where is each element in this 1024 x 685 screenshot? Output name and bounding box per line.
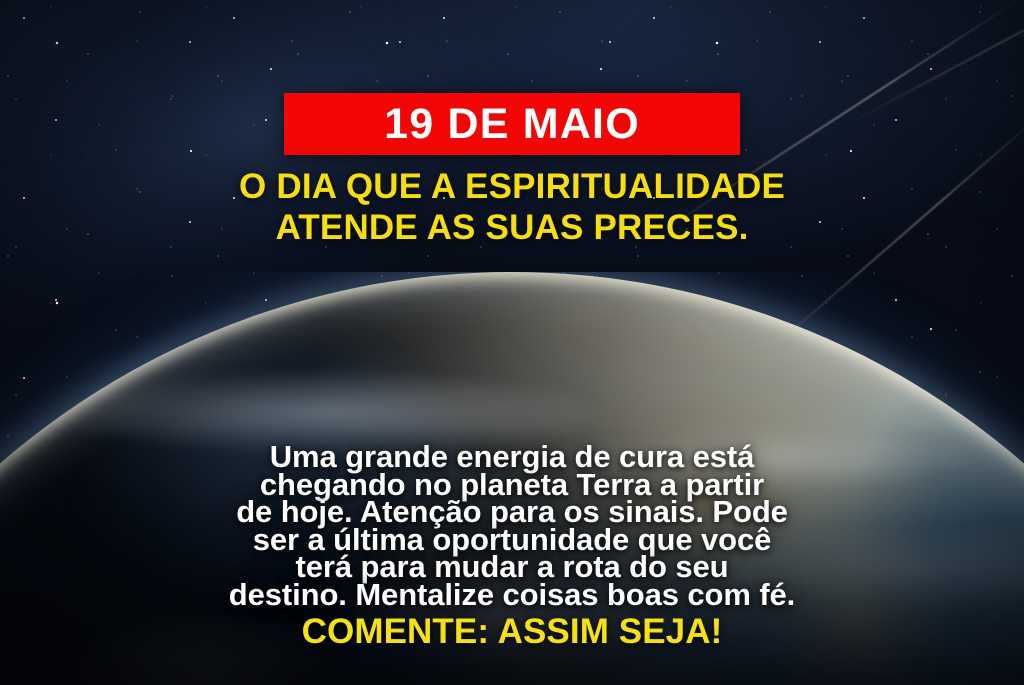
body-paragraph: Uma grande energia de cura está chegando… xyxy=(0,443,1024,608)
poster-canvas: 19 DE MAIO O DIA QUE A ESPIRITUALIDADE A… xyxy=(0,0,1024,685)
date-banner-label: 19 DE MAIO xyxy=(384,103,640,146)
headline-line-1: O DIA QUE A ESPIRITUALIDADE xyxy=(0,166,1024,207)
headline: O DIA QUE A ESPIRITUALIDADE ATENDE AS SU… xyxy=(0,166,1024,248)
body-line-6: destino. Mentalize coisas boas com fé. xyxy=(0,581,1024,609)
poster-content: 19 DE MAIO O DIA QUE A ESPIRITUALIDADE A… xyxy=(0,0,1024,685)
call-to-action-text: COMENTE: ASSIM SEJA! xyxy=(0,614,1024,649)
headline-line-2: ATENDE AS SUAS PRECES. xyxy=(0,207,1024,248)
date-banner: 19 DE MAIO xyxy=(284,93,740,155)
